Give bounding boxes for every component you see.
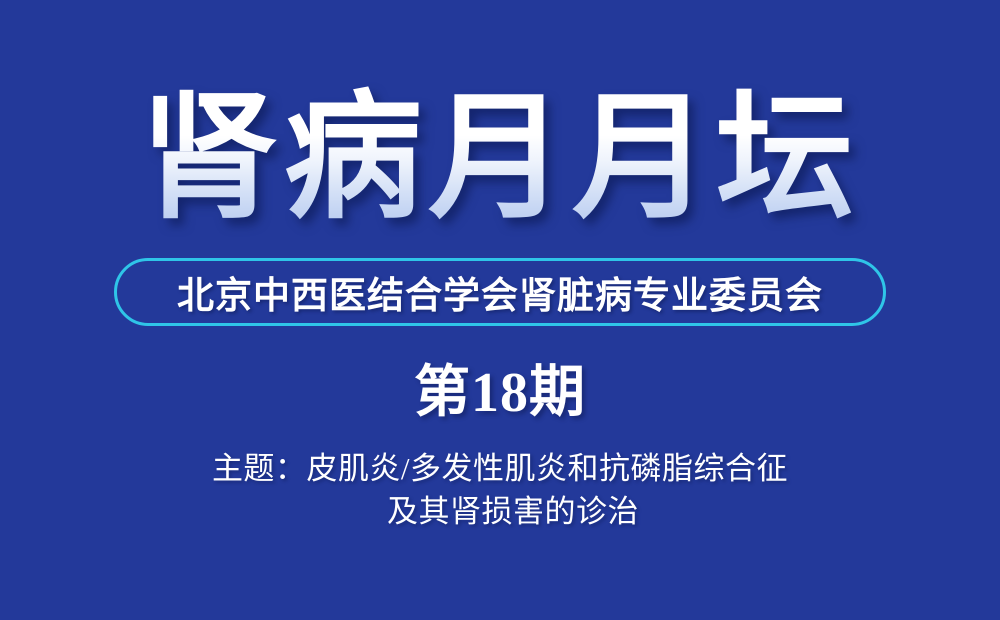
page-title: 肾病月月坛 (140, 86, 860, 232)
theme-line-2: 及其肾损害的诊治 (0, 490, 1000, 533)
theme-line-1: 主题：皮肌炎/多发性肌炎和抗磷脂综合征 (0, 447, 1000, 490)
poster-canvas: 肾病月月坛 北京中西医结合学会肾脏病专业委员会 第18期 主题：皮肌炎/多发性肌… (0, 0, 1000, 620)
theme-container: 主题：皮肌炎/多发性肌炎和抗磷脂综合征 及其肾损害的诊治 (0, 447, 1000, 533)
issue-number: 第18期 (414, 362, 586, 424)
organization-badge: 北京中西医结合学会肾脏病专业委员会 (114, 258, 886, 326)
organization-name: 北京中西医结合学会肾脏病专业委员会 (177, 265, 823, 319)
issue-number-container: 第18期 (0, 365, 1000, 421)
main-title-container: 肾病月月坛 (0, 86, 1000, 232)
